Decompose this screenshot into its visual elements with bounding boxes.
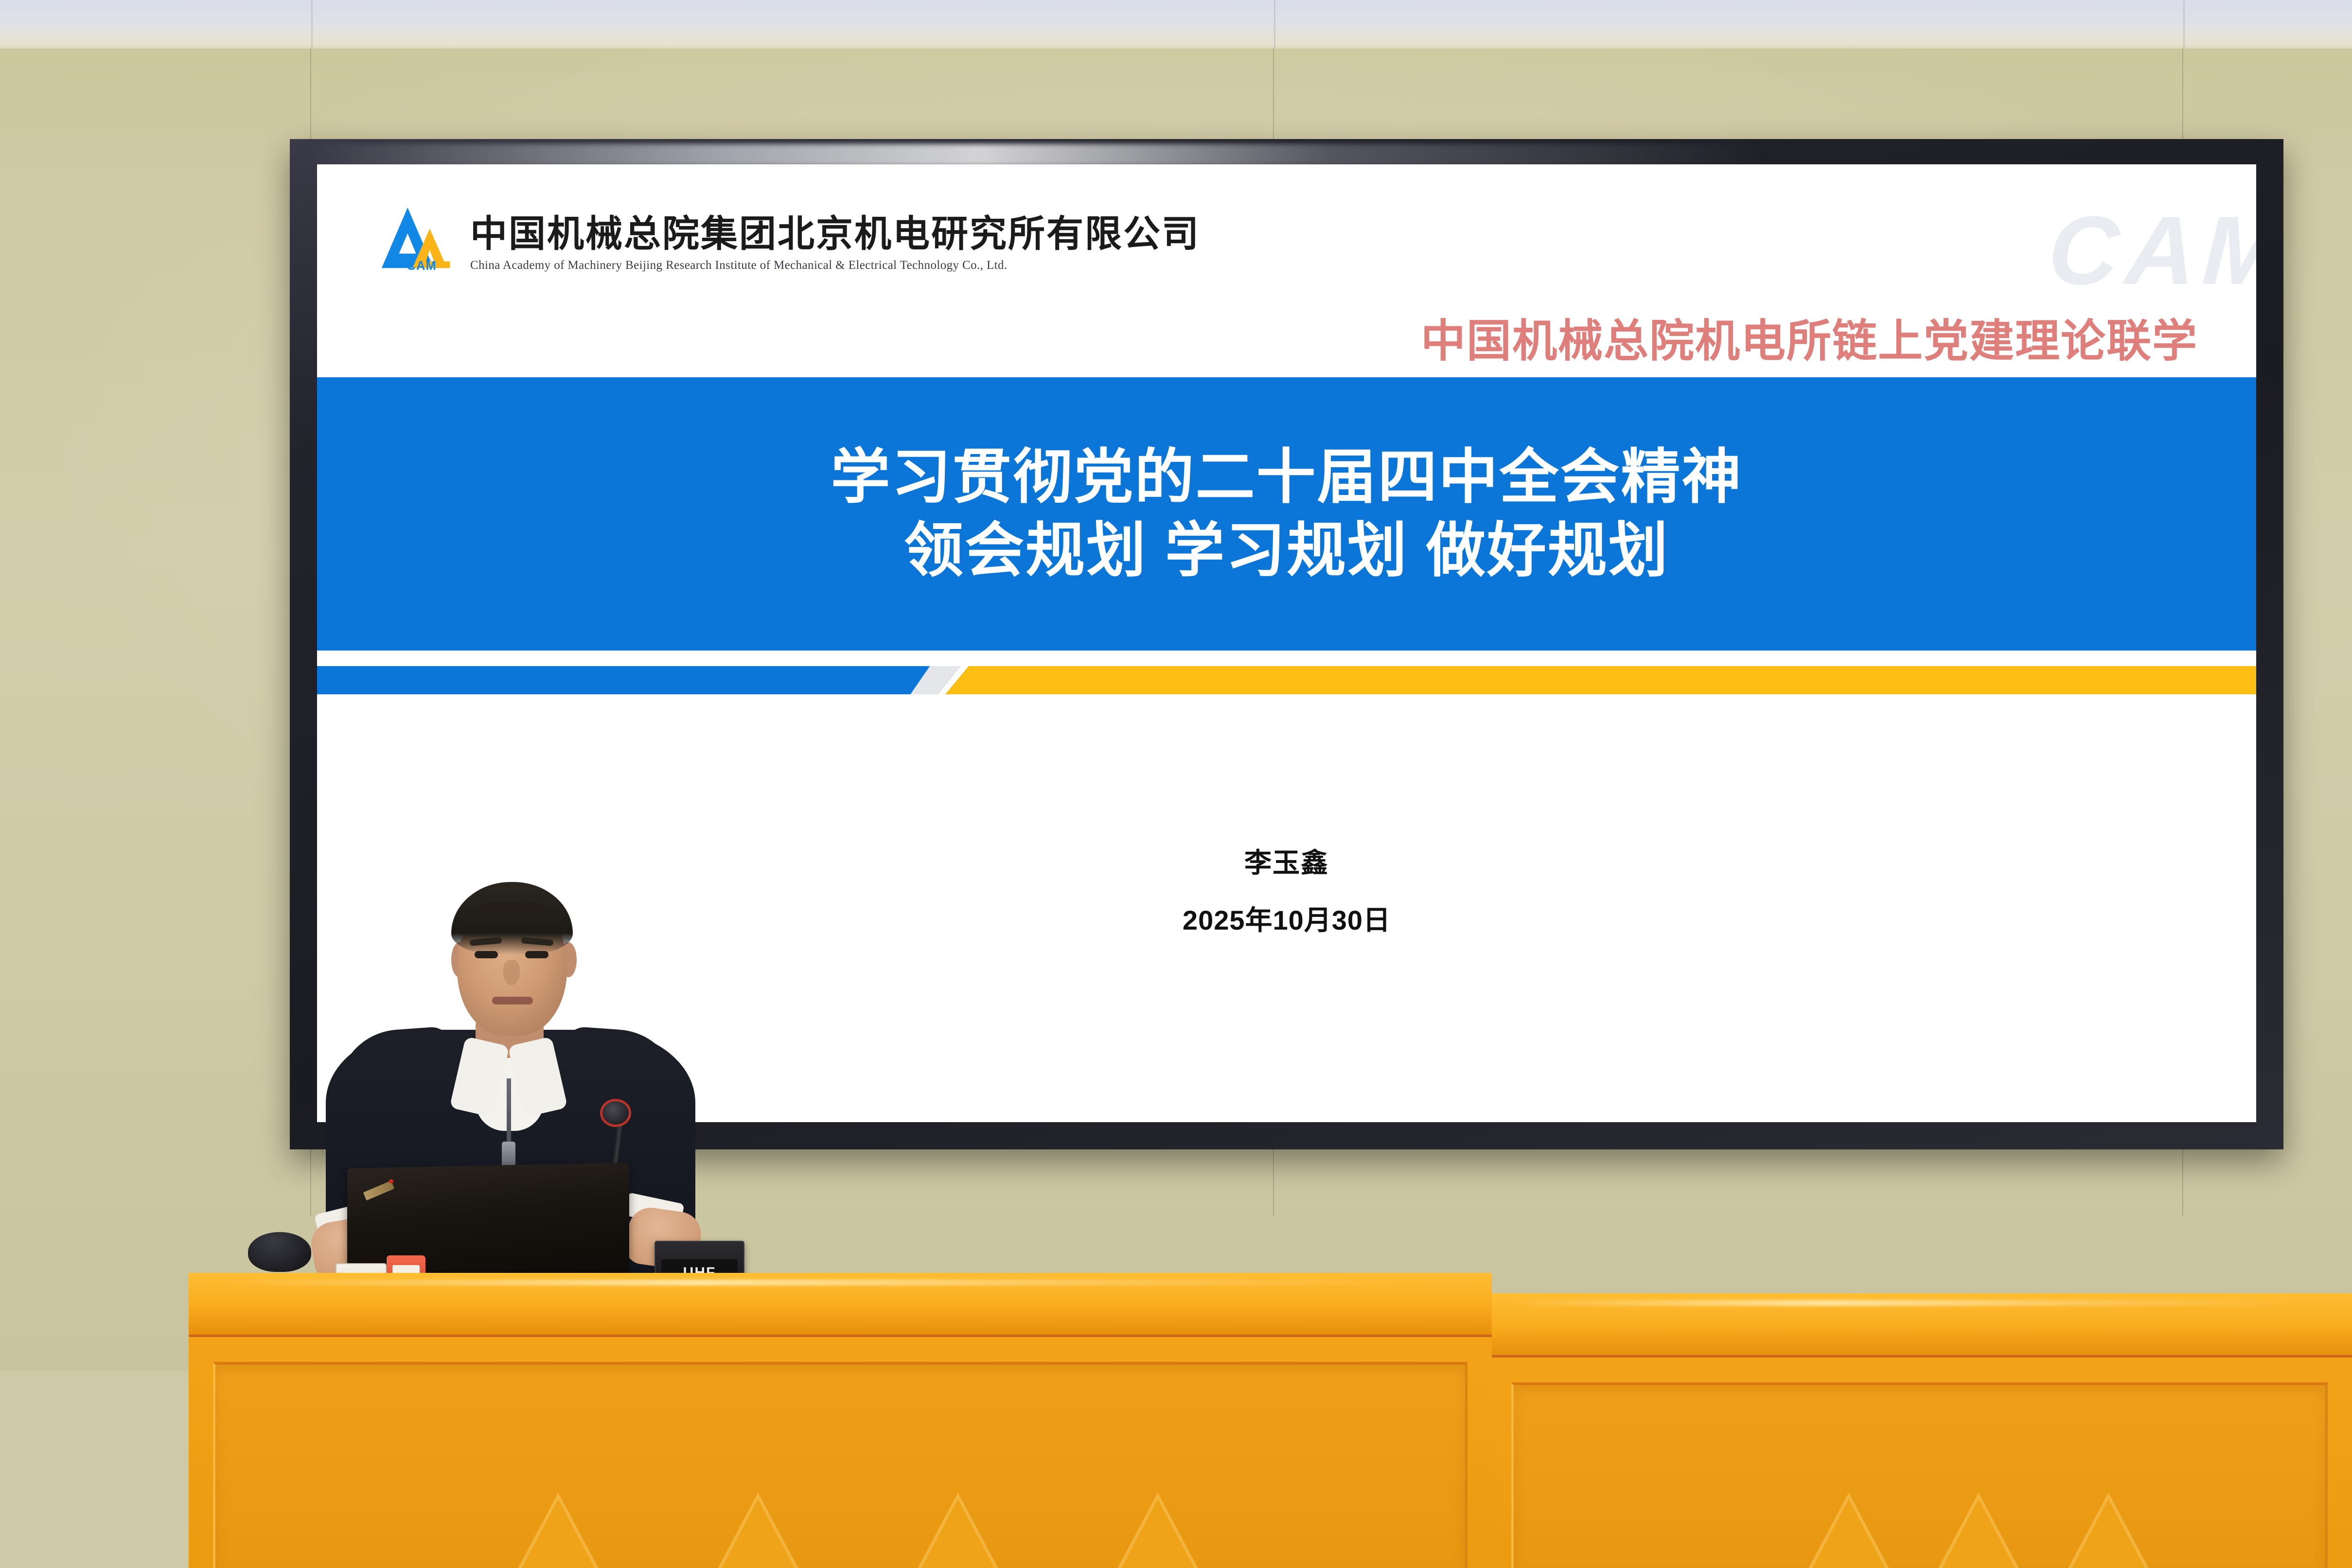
svg-text:CAM: CAM [407,259,436,273]
organization-name-en: China Academy of Machinery Beijing Resea… [470,259,1200,272]
eye-right [525,951,548,958]
organization-name-cn: 中国机械总院集团北京机电研究所有限公司 [470,216,1200,253]
microphone-head [600,1099,631,1127]
cam-watermark: CAM [2046,202,2256,300]
accent-stripe-blue [317,666,937,694]
organization-logo-lockup: CAM 中国机械总院集团北京机电研究所有限公司 China Academy of… [378,202,1200,275]
slide-title-band: 学习贯彻党的二十届四中全会精神 领会规划 学习规划 做好规划 [317,377,2256,651]
eye-left [475,951,498,958]
hair [451,882,573,955]
podium-top-rail [1487,1293,2352,1357]
podium-top-rail [189,1273,1492,1337]
podium-recessed-panel [1511,1382,2328,1568]
slide-title-line2: 领会规划 学习规划 做好规划 [904,517,1669,584]
podium-panel [1487,1360,2352,1568]
computer-mouse [248,1232,311,1272]
accent-stripe-yellow [945,666,2256,694]
slide-title-line1: 学习贯彻党的二十届四中全会精神 [831,444,1743,511]
slide-kicker-headline: 中国机械总院机电所链上党建理论联学 [1421,319,2198,364]
podium-panel [189,1339,1492,1568]
nose [503,960,520,985]
presentation-room-photo: CAM CAM 中国机械总院集团北京机电研究所有限公司 China Academ… [0,0,2352,1568]
ceiling [0,0,2352,53]
organization-name-block: 中国机械总院集团北京机电研究所有限公司 China Academy of Mac… [470,216,1200,275]
accent-stripe [317,666,2256,694]
cam-double-triangle-logo: CAM [378,202,460,275]
podium-recessed-panel [213,1362,1468,1568]
jacket-zipper-pull [502,1142,515,1167]
ceiling-seam [2183,0,2185,53]
podium-main-section [189,1273,1492,1568]
ceiling-seam [1274,0,1275,53]
bezel-glare [309,144,1768,166]
mouth [492,997,533,1004]
ceiling-seam [311,0,313,53]
podium-right-section [1487,1293,2352,1568]
thinkpad-logo [363,1180,394,1200]
